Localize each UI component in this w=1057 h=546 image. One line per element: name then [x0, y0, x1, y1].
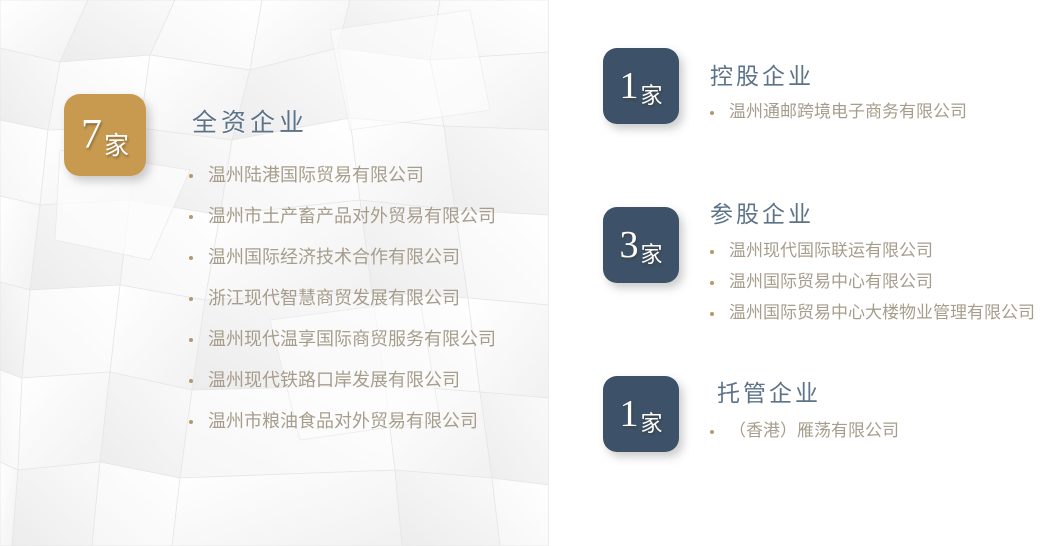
badge-count-equity-participation: 3 家	[603, 207, 679, 283]
badge-number: 3	[619, 226, 638, 264]
list-item: 温州通邮跨境电子商务有限公司	[704, 104, 967, 121]
list-item: 温州国际贸易中心大楼物业管理有限公司	[704, 305, 1035, 322]
company-list-controlling: 温州通邮跨境电子商务有限公司	[704, 104, 967, 121]
list-item: （香港）雁荡有限公司	[704, 423, 899, 440]
badge-unit: 家	[640, 413, 662, 435]
badge-number: 1	[619, 67, 638, 105]
section-heading-wholly-owned: 全资企业	[192, 103, 308, 139]
company-name: 温州陆港国际贸易有限公司	[208, 165, 424, 186]
list-item: 温州国际贸易中心有限公司	[704, 274, 1035, 291]
list-item: 温州现代温享国际商贸服务有限公司	[183, 331, 496, 349]
bullet-icon	[710, 281, 714, 285]
section-heading-equity-participation: 参股企业	[710, 195, 814, 229]
badge-inner: 1 家	[619, 67, 662, 105]
badge-inner: 1 家	[619, 395, 662, 433]
bullet-icon	[710, 312, 714, 316]
panel-right-edge	[548, 0, 549, 546]
section-heading-trusteeship: 托管企业	[717, 374, 821, 408]
company-list-wholly-owned: 温州陆港国际贸易有限公司 温州市土产畜产品对外贸易有限公司 温州国际经济技术合作…	[183, 167, 496, 454]
list-item: 温州现代国际联运有限公司	[704, 243, 1035, 260]
bullet-icon	[189, 338, 193, 342]
bullet-icon	[710, 111, 714, 115]
badge-number: 1	[619, 395, 638, 433]
company-name: 浙江现代智慧商贸发展有限公司	[208, 288, 460, 309]
company-name: 温州现代国际联运有限公司	[729, 241, 933, 261]
company-name: 温州国际经济技术合作有限公司	[208, 247, 460, 268]
bullet-icon	[189, 379, 193, 383]
list-item: 温州陆港国际贸易有限公司	[183, 167, 496, 185]
list-item: 浙江现代智慧商贸发展有限公司	[183, 290, 496, 308]
list-item: 温州国际经济技术合作有限公司	[183, 249, 496, 267]
badge-inner: 3 家	[619, 226, 662, 264]
list-item: 温州市粮油食品对外贸易有限公司	[183, 413, 496, 431]
bullet-icon	[189, 256, 193, 260]
badge-number: 7	[81, 114, 102, 156]
bullet-icon	[189, 420, 193, 424]
badge-unit: 家	[104, 134, 129, 159]
company-list-equity-participation: 温州现代国际联运有限公司 温州国际贸易中心有限公司 温州国际贸易中心大楼物业管理…	[704, 243, 1035, 322]
company-name: 温州国际贸易中心有限公司	[729, 272, 933, 292]
bullet-icon	[189, 297, 193, 301]
company-name: 温州市土产畜产品对外贸易有限公司	[208, 206, 496, 227]
bullet-icon	[710, 250, 714, 254]
badge-unit: 家	[640, 85, 662, 107]
bullet-icon	[189, 174, 193, 178]
company-name: （香港）雁荡有限公司	[729, 421, 899, 441]
company-name: 温州现代铁路口岸发展有限公司	[208, 370, 460, 391]
company-list-trusteeship: （香港）雁荡有限公司	[704, 423, 899, 440]
company-name: 温州现代温享国际商贸服务有限公司	[208, 329, 496, 350]
list-item: 温州市土产畜产品对外贸易有限公司	[183, 208, 496, 226]
bullet-icon	[710, 430, 714, 434]
badge-count-wholly-owned: 7 家	[64, 94, 146, 176]
list-item: 温州现代铁路口岸发展有限公司	[183, 372, 496, 390]
badge-count-controlling: 1 家	[603, 48, 679, 124]
section-heading-controlling: 控股企业	[710, 57, 814, 91]
company-name: 温州市粮油食品对外贸易有限公司	[208, 411, 478, 432]
company-name: 温州国际贸易中心大楼物业管理有限公司	[729, 303, 1035, 323]
badge-unit: 家	[640, 244, 662, 266]
slide-canvas: 7 家 全资企业 温州陆港国际贸易有限公司 温州市土产畜产品对外贸易有限公司 温…	[0, 0, 1057, 546]
company-name: 温州通邮跨境电子商务有限公司	[729, 102, 967, 122]
badge-inner: 7 家	[81, 114, 129, 156]
badge-count-trusteeship: 1 家	[603, 376, 679, 452]
bullet-icon	[189, 215, 193, 219]
